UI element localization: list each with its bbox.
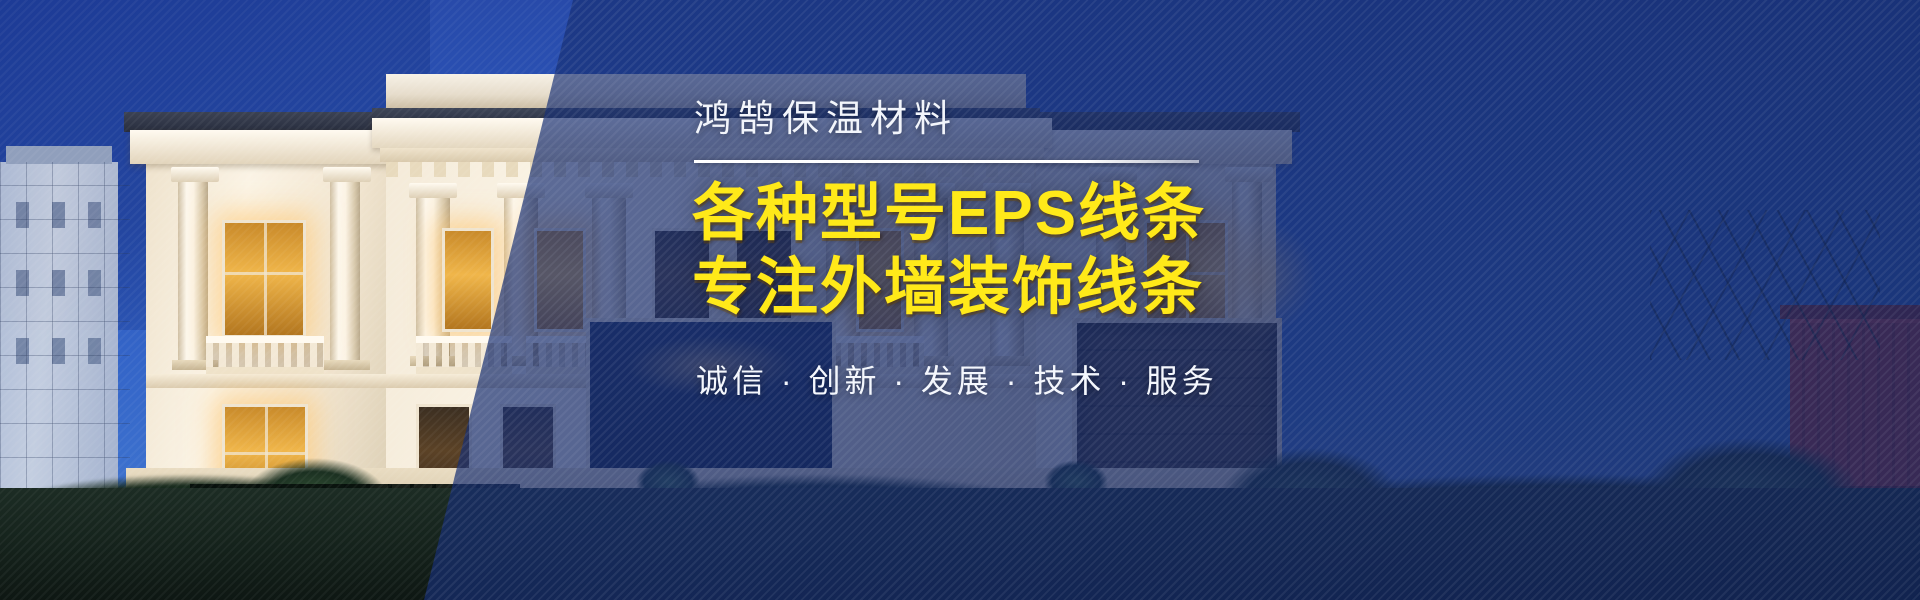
- headline-line-1: 各种型号EPS线条: [692, 179, 1550, 248]
- tagline: 诚信 · 创新 · 发展 · 技术 · 服务: [696, 356, 1550, 402]
- brand-name: 鸿鹄保温材料: [694, 96, 1550, 142]
- headline-line-2: 专注外墙装饰线条: [692, 253, 1550, 322]
- hero-banner: 鸿鹄保温材料 各种型号EPS线条 专注外墙装饰线条 诚信 · 创新 · 发展 ·…: [0, 0, 1920, 600]
- banner-text-block: 鸿鹄保温材料 各种型号EPS线条 专注外墙装饰线条 诚信 · 创新 · 发展 ·…: [690, 96, 1550, 402]
- divider-rule: [694, 160, 1199, 163]
